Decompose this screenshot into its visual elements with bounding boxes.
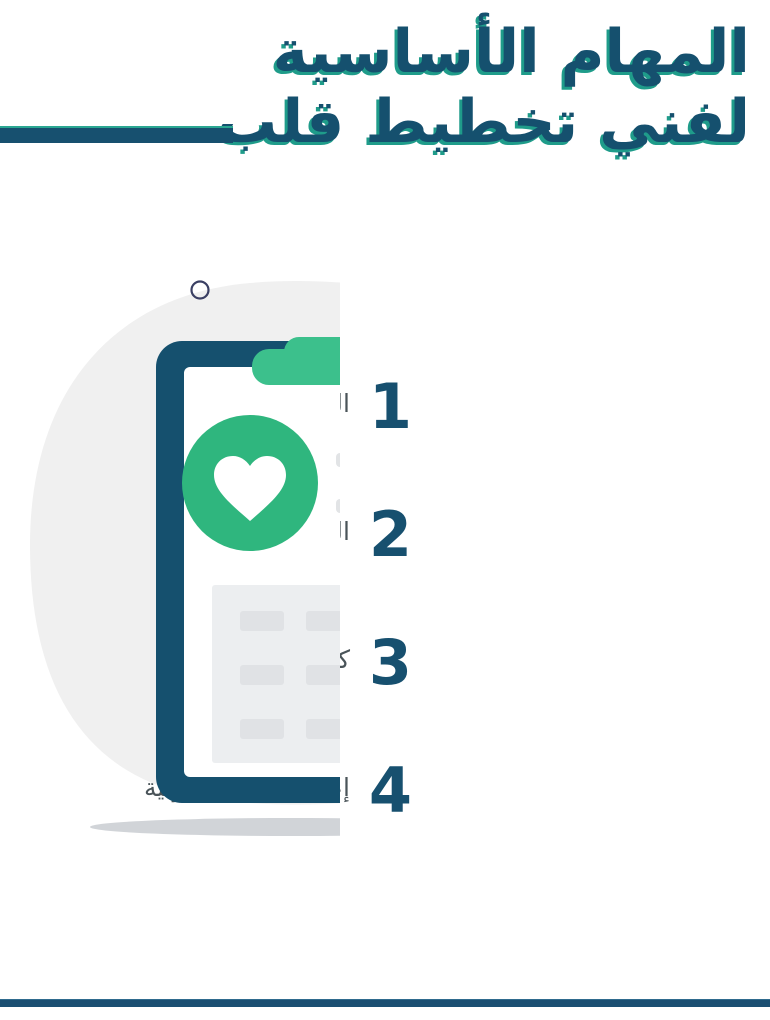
list-item-number: 3	[350, 628, 430, 698]
list-item-number: 1	[350, 372, 430, 442]
heart-badge-icon	[182, 415, 318, 551]
placeholder-line	[336, 499, 340, 513]
clipboard-heart-illustration	[0, 245, 340, 865]
form-row-label	[240, 719, 284, 739]
placeholder-line	[336, 453, 340, 467]
form-row-value	[306, 719, 340, 739]
page-title-line-2: لفني تخطيط قلب	[0, 88, 750, 158]
form-row-value	[306, 611, 340, 631]
clipboard-shadow	[90, 818, 340, 836]
title-block: المهام الأساسية لفني تخطيط قلب	[0, 18, 770, 218]
title-divider-rule	[0, 126, 233, 143]
list-item-number: 2	[350, 500, 430, 570]
infographic-page: المهام الأساسية لفني تخطيط قلب 1 القيام …	[0, 0, 770, 1020]
page-title-line-1: المهام الأساسية	[0, 18, 750, 88]
form-row-label	[240, 665, 284, 685]
footer-bar	[0, 999, 770, 1007]
list-item-number: 4	[350, 756, 430, 826]
form-row-value	[306, 665, 340, 685]
form-row-label	[240, 611, 284, 631]
